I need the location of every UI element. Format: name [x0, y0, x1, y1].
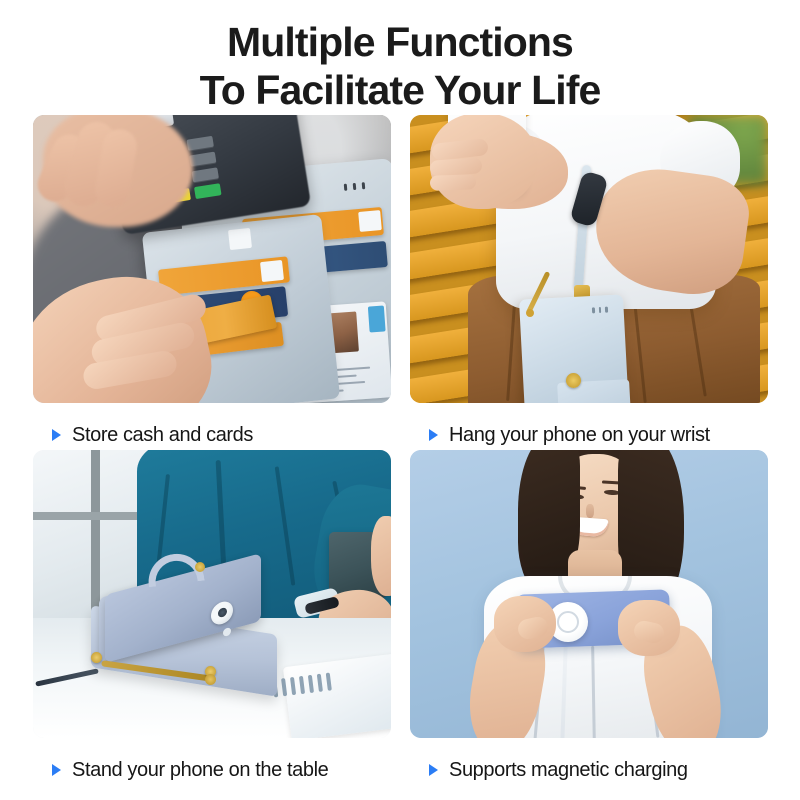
cutout-dot — [344, 184, 348, 191]
cutout-dot — [605, 307, 608, 313]
magnetic-snap-button — [566, 373, 581, 388]
cutout-dot — [598, 307, 601, 313]
keypad-key — [192, 167, 219, 182]
id-hologram — [368, 305, 386, 332]
feature-card-supports-magnetic-charging: Supports magnetic charging — [410, 450, 768, 790]
zipper-pull — [526, 309, 534, 317]
spiral-ring — [290, 677, 296, 695]
camera-cutout-dots — [592, 307, 608, 314]
nose — [586, 504, 594, 518]
triangle-right-icon — [429, 764, 438, 776]
title-line-1: Multiple Functions — [0, 18, 800, 66]
feature-caption-hang-phone-on-wrist: Hang your phone on your wrist — [410, 415, 768, 455]
triangle-right-icon — [52, 764, 61, 776]
zipper-pull — [205, 674, 216, 685]
infographic-page: Multiple Functions To Facilitate Your Li… — [0, 0, 800, 800]
feature-caption-store-cash-and-cards: Store cash and cards — [33, 415, 391, 455]
spiral-ring — [317, 674, 323, 692]
keypad-key — [189, 152, 216, 167]
page-title: Multiple Functions To Facilitate Your Li… — [0, 18, 800, 114]
spiral-ring — [299, 676, 305, 694]
caption-label: Stand your phone on the table — [72, 759, 328, 782]
feature-photo-store-cash-and-cards — [33, 115, 391, 403]
cup-finger — [430, 174, 476, 191]
title-line-2: To Facilitate Your Life — [0, 66, 800, 114]
feature-card-store-cash-and-cards: Store cash and cards — [33, 115, 391, 455]
hand-holding-mug — [371, 516, 391, 596]
cutout-dot — [362, 182, 366, 189]
triangle-right-icon — [429, 429, 438, 441]
caption-label: Supports magnetic charging — [449, 759, 688, 782]
spiral-notebook — [283, 653, 391, 738]
card-logo-tag — [358, 210, 382, 232]
spiral-ring — [308, 675, 314, 693]
feature-photo-hang-phone-on-wrist — [410, 115, 768, 403]
strap-snap-button — [195, 562, 205, 572]
triangle-right-icon — [52, 429, 61, 441]
caption-label: Hang your phone on your wrist — [449, 424, 710, 447]
cutout-dot — [592, 307, 595, 313]
feature-grid: Store cash and cards — [33, 115, 768, 740]
feature-card-hang-phone-on-wrist: Hang your phone on your wrist — [410, 115, 768, 455]
spiral-ring — [281, 678, 287, 696]
caption-label: Store cash and cards — [72, 424, 253, 447]
feature-caption-stand-phone-on-table: Stand your phone on the table — [33, 750, 391, 790]
card-logo-tag — [228, 228, 252, 250]
card-logo-tag — [260, 260, 284, 282]
case-rivet — [91, 652, 102, 663]
feature-card-stand-phone-on-table: Stand your phone on the table — [33, 450, 391, 790]
magnet-ring — [557, 611, 579, 633]
feature-caption-supports-magnetic-charging: Supports magnetic charging — [410, 750, 768, 790]
cutout-dot — [353, 183, 357, 190]
feature-photo-stand-phone-on-table — [33, 450, 391, 738]
feature-photo-supports-magnetic-charging — [410, 450, 768, 738]
